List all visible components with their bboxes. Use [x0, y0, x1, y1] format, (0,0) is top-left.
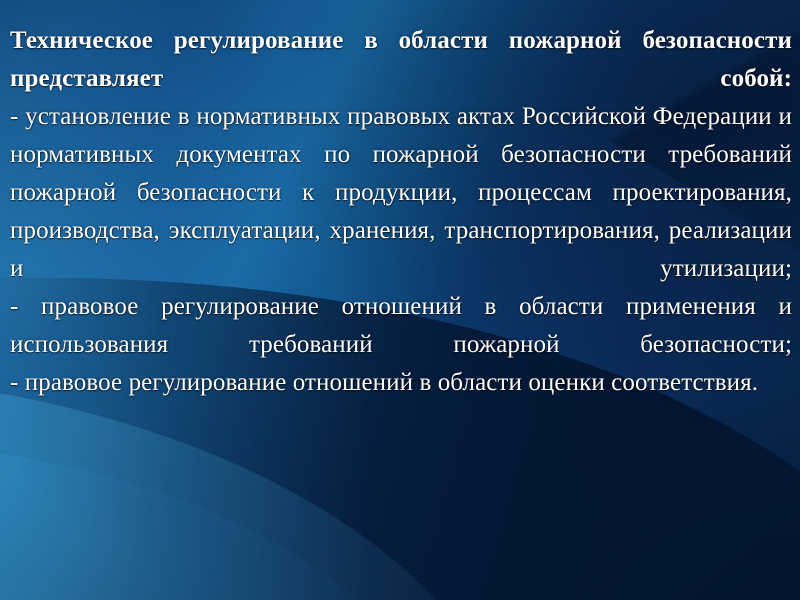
slide-bullet-3: - правовое регулирование отношений в обл…	[10, 364, 792, 402]
presentation-slide: Техническое регулирование в области пожа…	[0, 0, 800, 600]
slide-bullet-2: - правовое регулирование отношений в обл…	[10, 288, 792, 364]
slide-bullet-1: - установление в нормативных правовых ак…	[10, 98, 792, 288]
slide-text-body: Техническое регулирование в области пожа…	[10, 22, 792, 402]
slide-heading: Техническое регулирование в области пожа…	[10, 22, 792, 98]
